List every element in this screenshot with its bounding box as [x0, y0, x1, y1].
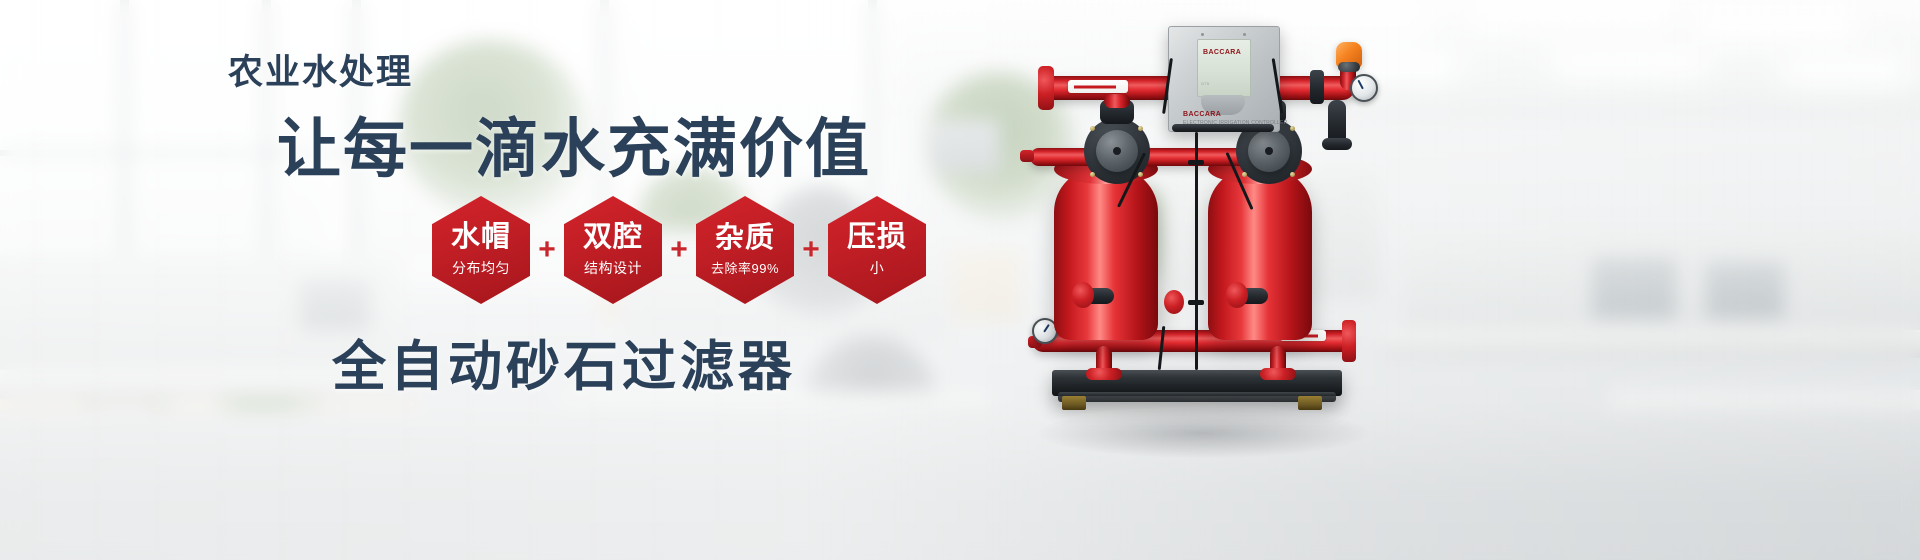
inlet-flange [1038, 66, 1054, 110]
base-foot [1298, 396, 1322, 410]
valve-bolt [1090, 126, 1095, 131]
gauge-needle [1043, 324, 1050, 333]
controller-brand-footer: BACCARA [1183, 111, 1221, 118]
feature-badge-shuangqiang[interactable]: 双腔 结构设计 [564, 196, 662, 304]
badge-separator-plus-icon: + [530, 235, 564, 265]
feature-badge-zazhi[interactable]: 杂质 去除率99% [696, 196, 794, 304]
irrigation-controller-box[interactable]: BACCARA G75 BACCARA ELECTRONIC IRRIGATIO… [1168, 26, 1280, 132]
header-tee-left [1104, 94, 1130, 108]
valve-hub-right [1265, 147, 1273, 155]
controller-led [1243, 33, 1246, 36]
mid-pipe-end-cap [1020, 150, 1034, 162]
leg-foot-flange [1260, 368, 1296, 380]
gauge-needle [1357, 80, 1363, 90]
vessel-side-port [1226, 282, 1248, 308]
badge-subtitle: 结构设计 [584, 258, 642, 278]
valve-bolt [1290, 126, 1295, 131]
pipe-flange [1342, 320, 1356, 362]
eyebrow-text: 农业水处理 [228, 44, 413, 95]
controller-display-window [1197, 39, 1251, 97]
base-foot [1062, 396, 1086, 410]
feature-badge-row: 水帽 分布均匀 + 双腔 结构设计 + 杂质 去除率99% + 压损 小 [432, 196, 926, 304]
cable-tie [1188, 300, 1204, 305]
badge-title: 双腔 [583, 222, 643, 252]
product-image-sand-filter: BACCARA G75 BACCARA ELECTRONIC IRRIGATIO… [980, 0, 1920, 560]
filter-base-frame [1058, 392, 1336, 402]
vessel-rear-port [1164, 290, 1184, 314]
filter-vessel-left [1054, 168, 1158, 340]
page-title: 让每一滴水充满价值 [277, 98, 871, 190]
product-title: 全自动砂石过滤器 [332, 322, 796, 401]
valve-bolt [1138, 172, 1143, 177]
badge-title: 压损 [847, 222, 907, 252]
valve-bolt [1242, 172, 1247, 177]
feature-badge-shuimao[interactable]: 水帽 分布均匀 [432, 196, 530, 304]
valve-bolt [1090, 172, 1095, 177]
controller-led [1201, 33, 1204, 36]
valve-hub-left [1113, 147, 1121, 155]
backwash-valve-arm [1322, 138, 1352, 150]
badge-title: 杂质 [715, 223, 775, 253]
controller-brand-label: BACCARA [1203, 49, 1241, 56]
pressure-gauge-upper [1350, 74, 1378, 102]
badge-subtitle: 小 [870, 258, 885, 278]
controller-model-label: G75 [1201, 81, 1209, 86]
product-ground-shadow [1038, 408, 1368, 458]
badge-subtitle: 分布均匀 [452, 258, 510, 278]
leg-foot-flange [1086, 368, 1122, 380]
filter-vessel-right [1208, 168, 1312, 340]
badge-subtitle: 去除率99% [711, 258, 779, 277]
promo-banner: 农业水处理 让每一滴水充满价值 全自动砂石过滤器 水帽 分布均匀 + 双腔 结构… [0, 0, 1920, 560]
inlet-flow-arrow-label [1068, 80, 1128, 93]
vessel-side-port [1072, 282, 1094, 308]
controller-cable-trunk [1195, 132, 1198, 370]
air-valve-cap [1338, 62, 1360, 72]
pipe-coupling [1310, 70, 1324, 104]
feature-badge-yasun[interactable]: 压损 小 [828, 196, 926, 304]
badge-title: 水帽 [451, 222, 511, 252]
controller-mount-bracket [1172, 124, 1274, 132]
badge-separator-plus-icon: + [662, 235, 696, 265]
cable-tie [1188, 160, 1204, 165]
badge-separator-plus-icon: + [794, 235, 828, 265]
valve-bolt [1290, 172, 1295, 177]
valve-bolt [1138, 126, 1143, 131]
